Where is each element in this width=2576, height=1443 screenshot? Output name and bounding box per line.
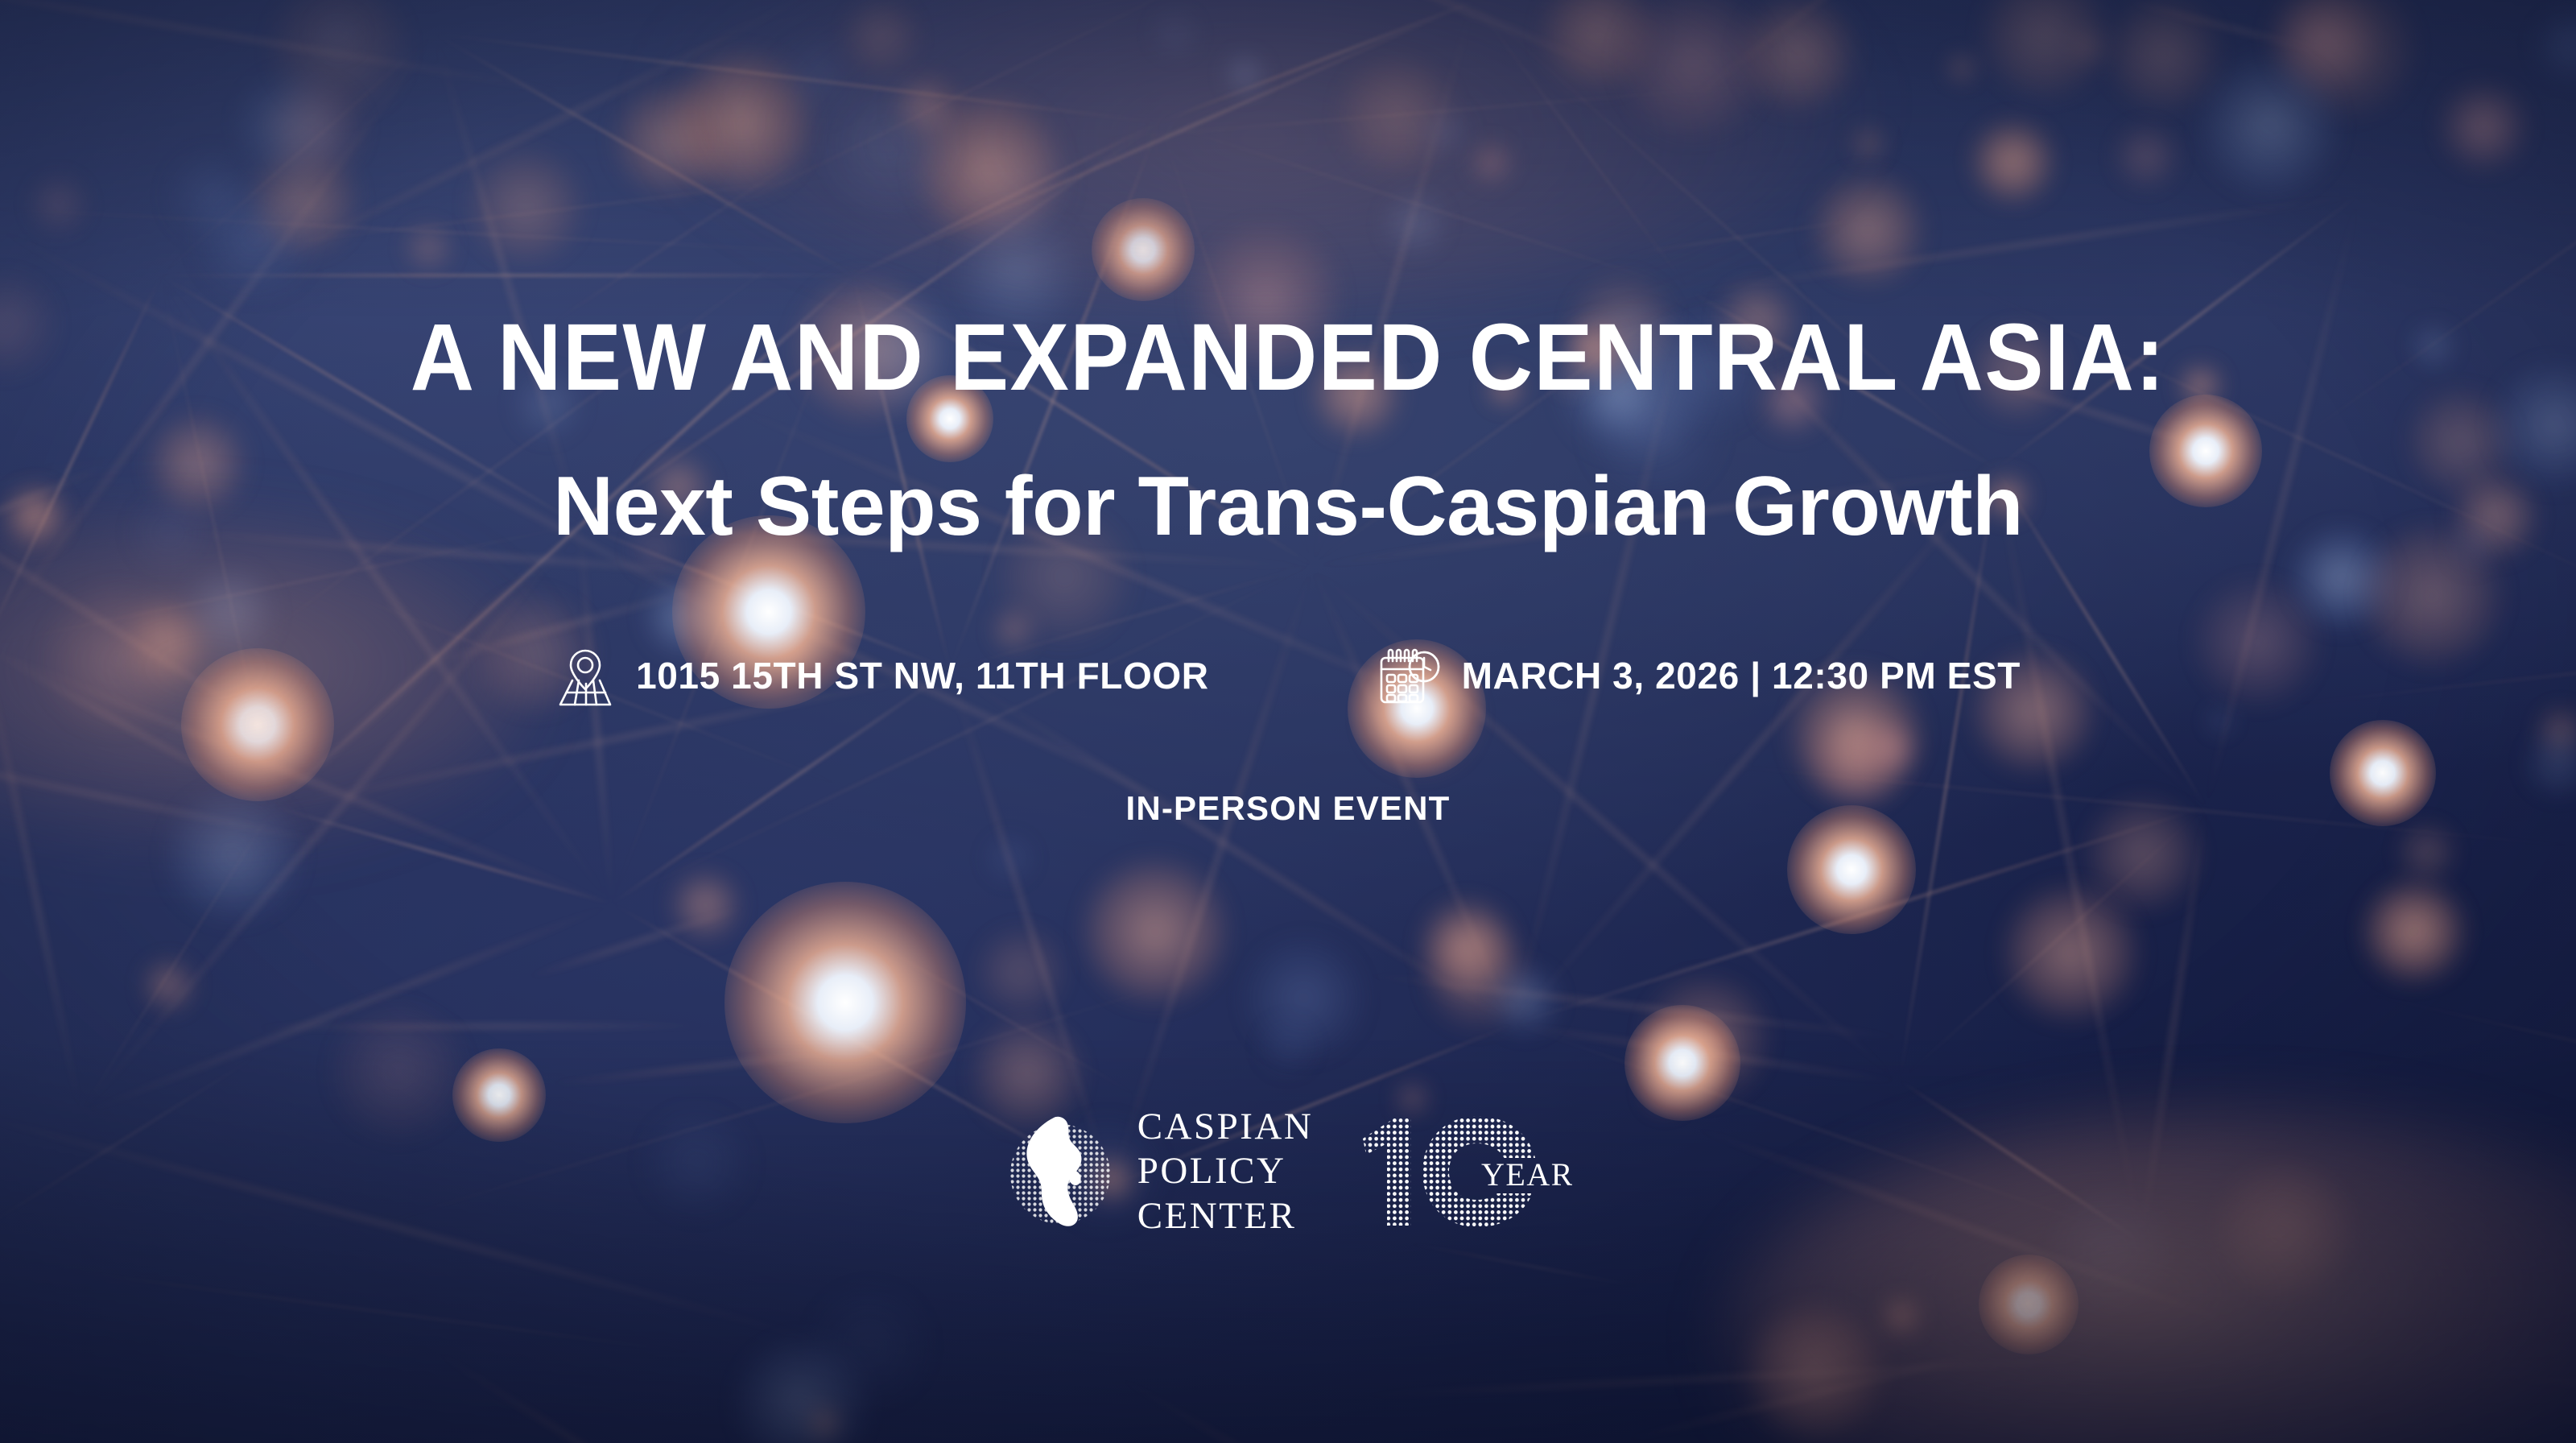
event-promo-poster: A NEW AND EXPANDED CENTRAL ASIA: Next St… (0, 0, 2576, 1443)
event-format-label: IN-PERSON EVENT (0, 789, 2576, 828)
page-title: A NEW AND EXPANDED CENTRAL ASIA: (90, 308, 2486, 408)
event-datetime: MARCH 3, 2026 | 12:30 PM EST (1378, 644, 2021, 707)
event-location: 1015 15TH ST NW, 11TH FLOOR (555, 644, 1209, 707)
wordmark-line-1: CASPIAN (1137, 1105, 1314, 1149)
wordmark-line-2: POLICY (1137, 1149, 1314, 1193)
event-details-row: 1015 15TH ST NW, 11TH FLOOR (0, 644, 2576, 707)
caspian-policy-center-logo: CASPIAN POLICY CENTER (1004, 1105, 1314, 1238)
calendar-clock-icon (1378, 644, 1441, 707)
event-location-text: 1015 15TH ST NW, 11TH FLOOR (636, 654, 1209, 697)
event-datetime-text: MARCH 3, 2026 | 12:30 PM EST (1462, 654, 2021, 697)
caspian-sea-globe-icon (1004, 1111, 1117, 1232)
branding-row: CASPIAN POLICY CENTER (0, 1105, 2576, 1238)
anniversary-years-label: YEARS (1481, 1156, 1572, 1193)
tenth-anniversary-logo: YEARS (1355, 1111, 1572, 1232)
map-pin-icon (555, 644, 615, 707)
page-subtitle: Next Steps for Trans-Caspian Growth (0, 461, 2576, 552)
caspian-policy-center-wordmark: CASPIAN POLICY CENTER (1137, 1105, 1314, 1238)
wordmark-line-3: CENTER (1137, 1194, 1314, 1238)
